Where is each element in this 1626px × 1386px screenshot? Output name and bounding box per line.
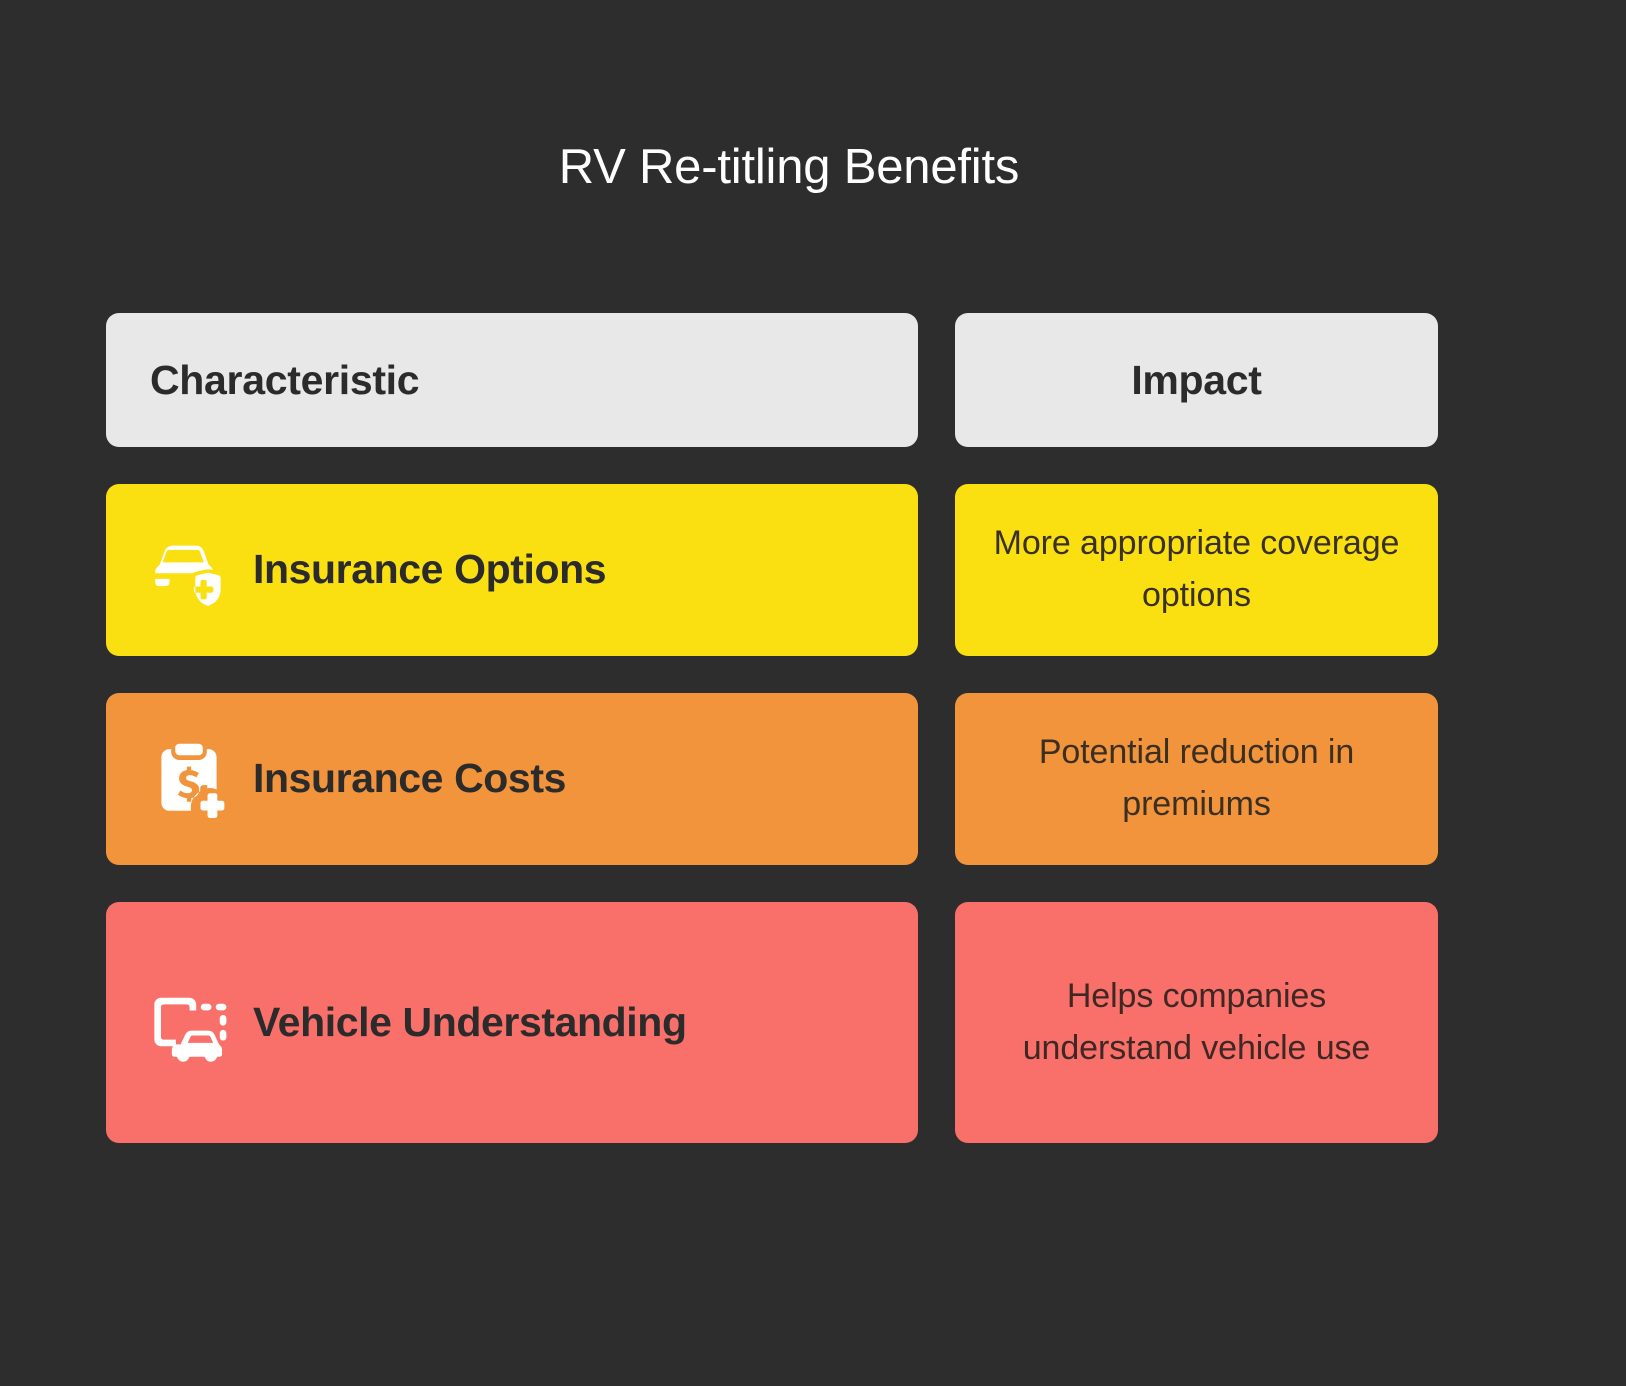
car-shield-plus-icon: [141, 522, 237, 618]
row-1-characteristic-label: Insurance Options: [253, 546, 606, 593]
benefits-table: Characteristic Impact Insuran: [106, 313, 1438, 1180]
row-1-impact-text: More appropriate coverage options: [985, 518, 1408, 621]
vehicle-tracking-icon: [141, 975, 237, 1071]
header-cell-impact: Impact: [955, 313, 1438, 447]
row-1-characteristic-cell: Insurance Options: [106, 484, 918, 656]
row-3-impact-text: Helps companies understand vehicle use: [985, 971, 1408, 1074]
infographic-page: RV Re-titling Benefits Characteristic Im…: [0, 0, 1626, 1386]
clipboard-dollar-plus-icon: [141, 731, 237, 827]
row-1-impact-cell: More appropriate coverage options: [955, 484, 1438, 656]
header-label-impact: Impact: [1131, 357, 1261, 404]
row-3-impact-cell: Helps companies understand vehicle use: [955, 902, 1438, 1143]
row-3-characteristic-cell: Vehicle Understanding: [106, 902, 918, 1143]
table-header-row: Characteristic Impact: [106, 313, 1438, 447]
header-label-characteristic: Characteristic: [150, 357, 419, 404]
row-3-characteristic-label: Vehicle Understanding: [253, 999, 687, 1046]
page-title: RV Re-titling Benefits: [0, 138, 1578, 197]
header-cell-characteristic: Characteristic: [106, 313, 918, 447]
row-2-characteristic-cell: Insurance Costs: [106, 693, 918, 865]
table-row: Insurance Costs Potential reduction in p…: [106, 693, 1438, 865]
row-2-impact-cell: Potential reduction in premiums: [955, 693, 1438, 865]
row-2-characteristic-label: Insurance Costs: [253, 755, 566, 802]
table-row: Vehicle Understanding Helps companies un…: [106, 902, 1438, 1143]
table-row: Insurance Options More appropriate cover…: [106, 484, 1438, 656]
row-2-impact-text: Potential reduction in premiums: [985, 727, 1408, 830]
